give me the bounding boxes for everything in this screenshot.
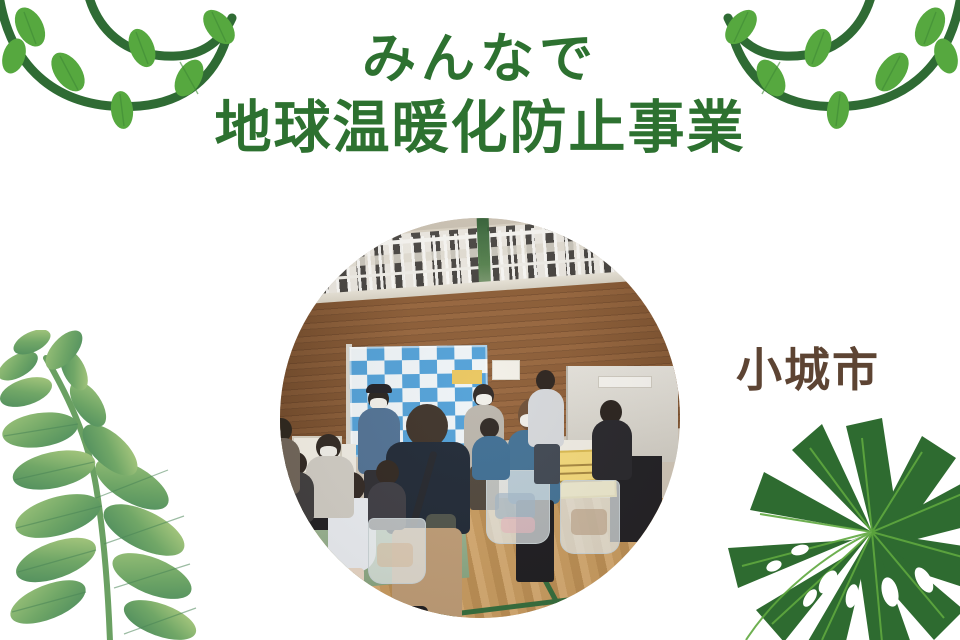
title-line-2: 地球温暖化防止事業 — [0, 92, 960, 165]
face-mask — [476, 394, 492, 405]
title-line-1: みんなで — [0, 26, 960, 92]
person-head — [480, 418, 499, 438]
person-torso — [280, 438, 300, 494]
bag-item — [495, 493, 535, 519]
person-legs — [340, 568, 364, 608]
person-torso — [592, 420, 632, 480]
poster-title: みんなで 地球温暖化防止事業 — [0, 26, 960, 165]
wall-poster-small — [492, 360, 520, 380]
city-name-label: 小城市 — [736, 334, 880, 400]
shoe — [402, 606, 428, 618]
person-head — [536, 370, 555, 391]
bag-item — [501, 517, 535, 533]
person-torso — [528, 389, 564, 447]
bag-item — [571, 509, 607, 535]
cabinet-label-sign — [598, 376, 652, 388]
monstera-leaf-decoration — [676, 414, 960, 640]
bag-item — [377, 543, 413, 567]
clear-plastic-bag — [368, 518, 426, 584]
person-torso — [472, 436, 510, 480]
cap — [366, 384, 392, 393]
event-photo-circle — [280, 218, 680, 618]
poster-canvas: みんなで 地球温暖化防止事業 小城市 — [0, 0, 960, 640]
clear-plastic-bag — [560, 480, 620, 554]
person-legs — [534, 444, 560, 484]
watercolor-branch-decoration — [0, 330, 252, 640]
event-photo-content — [280, 218, 680, 618]
wall-poster-yellow — [452, 370, 482, 384]
